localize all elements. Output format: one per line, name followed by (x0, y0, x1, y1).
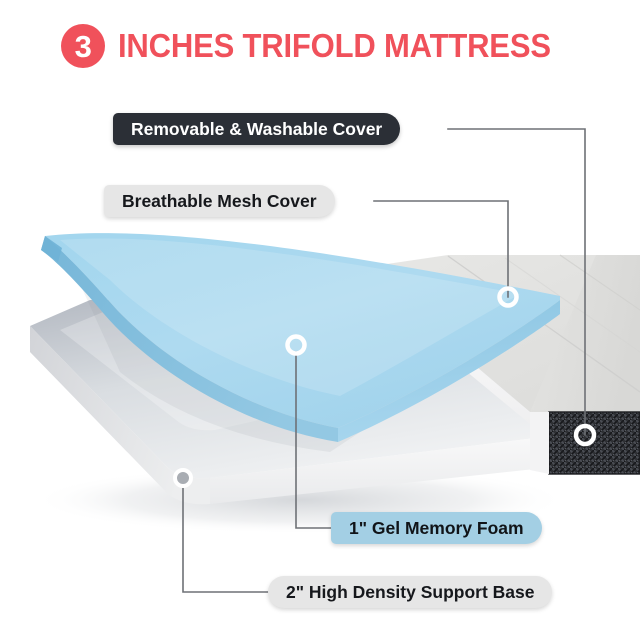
mattress-illustration-svg (0, 0, 640, 640)
callout-high-density-support-base[interactable]: 2" High Density Support Base (268, 576, 552, 608)
mattress-infographic: 3 INCHES TRIFOLD MATTRESS (0, 0, 640, 640)
callout-gel-memory-foam[interactable]: 1" Gel Memory Foam (331, 512, 542, 544)
callout-label: Breathable Mesh Cover (122, 191, 317, 212)
mattress-illustration (0, 0, 640, 640)
callout-breathable-mesh-cover[interactable]: Breathable Mesh Cover (104, 185, 335, 217)
callout-removable-washable-cover[interactable]: Removable & Washable Cover (113, 113, 400, 145)
callout-label: Removable & Washable Cover (131, 119, 382, 140)
marker-support-base (175, 470, 191, 486)
callout-label: 2" High Density Support Base (286, 582, 534, 603)
callout-label: 1" Gel Memory Foam (349, 518, 524, 539)
